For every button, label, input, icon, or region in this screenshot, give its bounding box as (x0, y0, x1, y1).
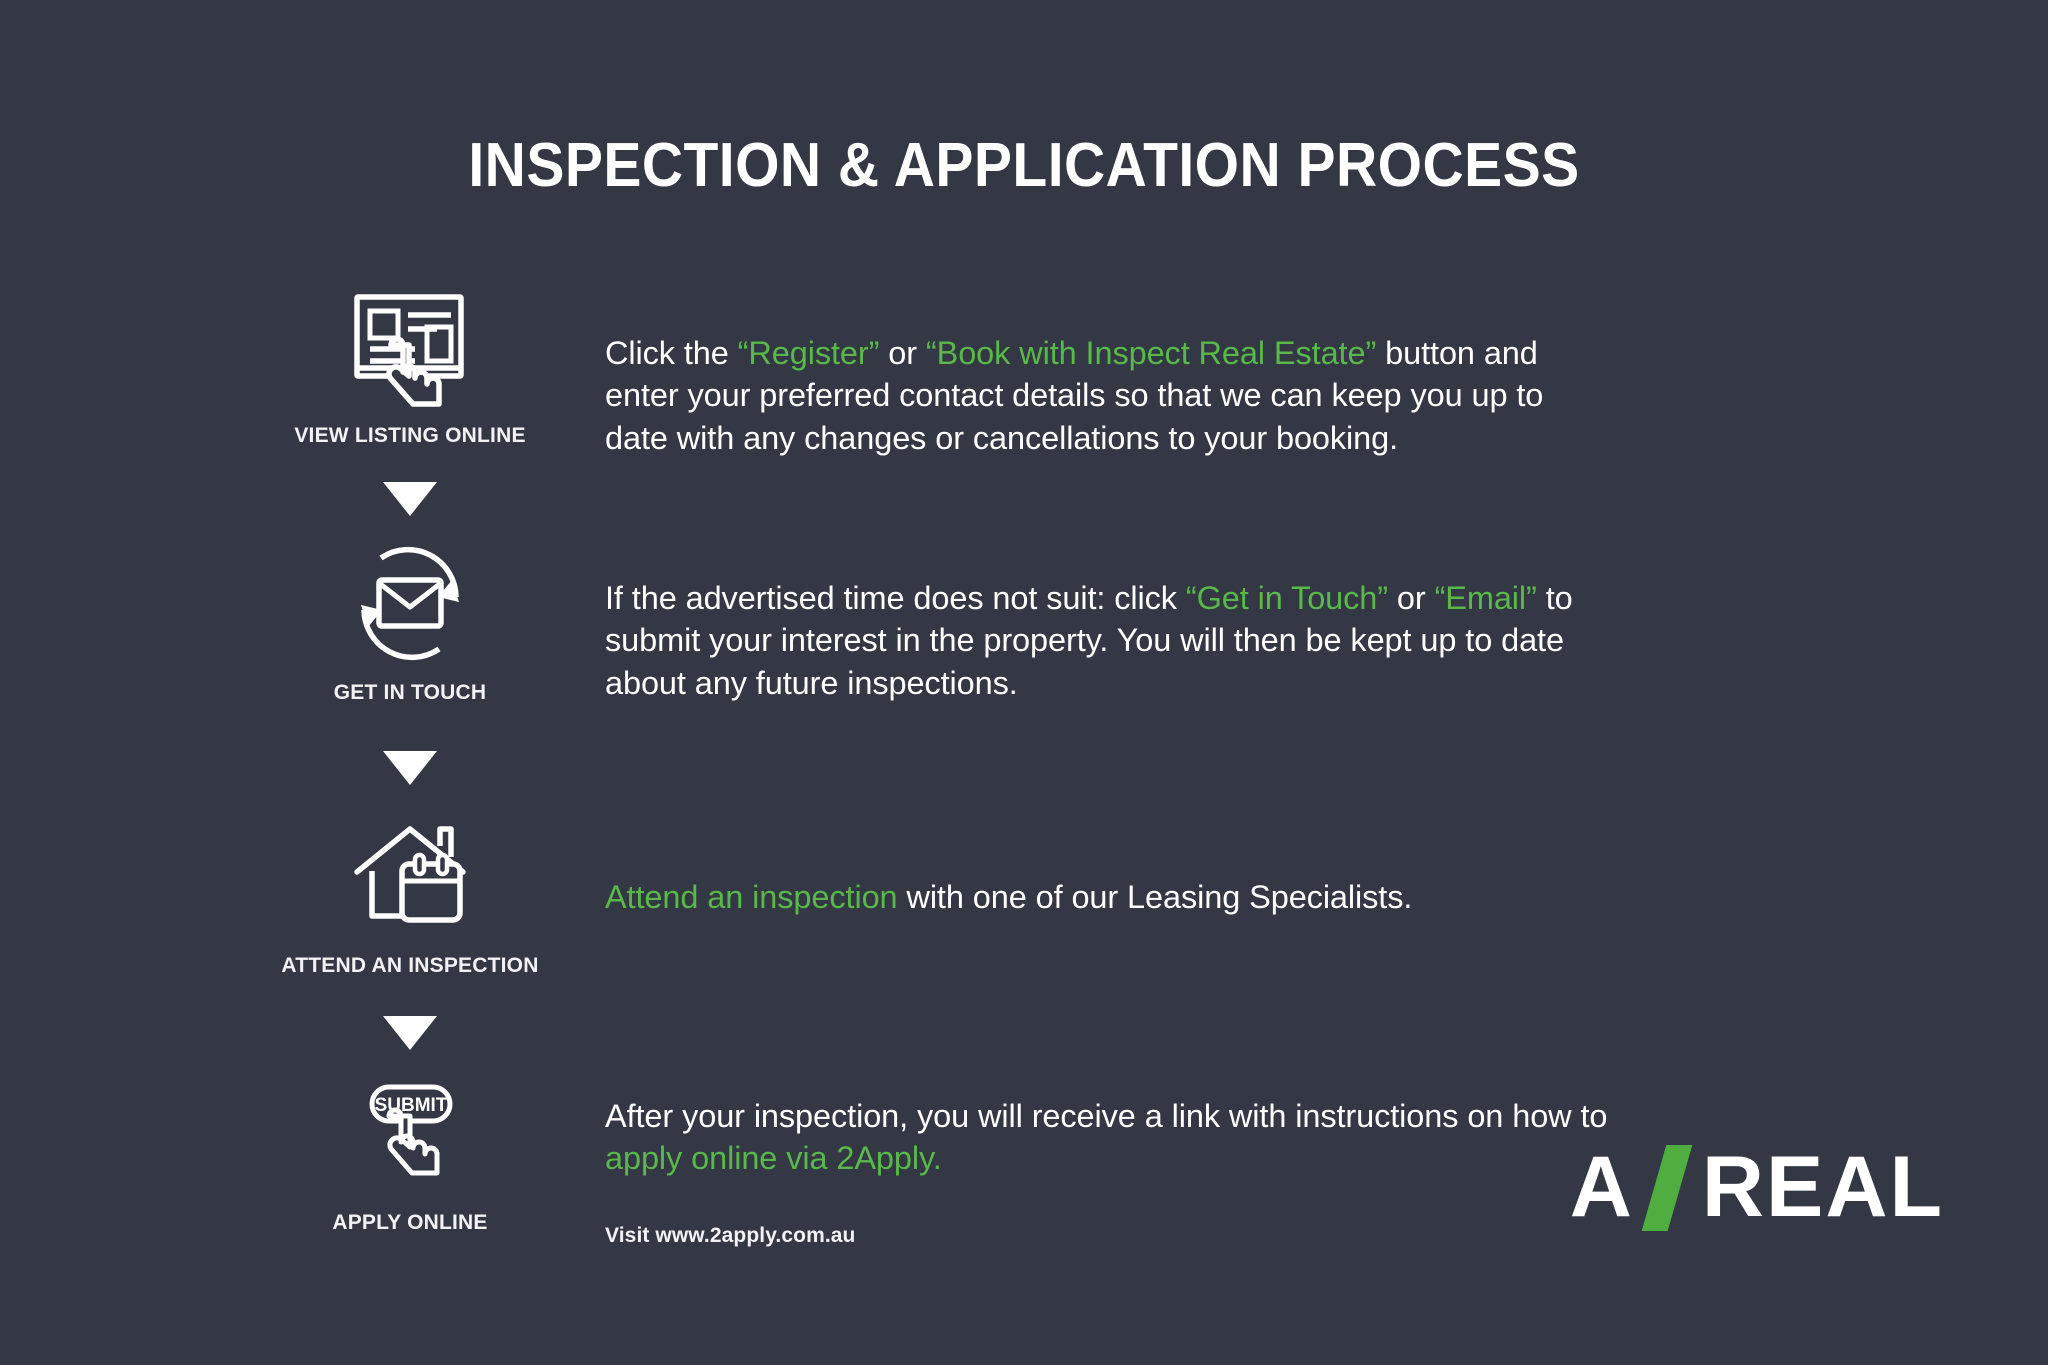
step-3-text-part-accent: Attend an inspection (605, 879, 898, 915)
step-1-icon-column: VIEW LISTING ONLINE (260, 288, 560, 448)
infographic-page: INSPECTION & APPLICATION PROCESS (0, 0, 2048, 1365)
step-2-text-part-accent: “Get in Touch” (1186, 580, 1388, 616)
step-4-icon-column: SUBMIT APPLY ONLINE (260, 1075, 560, 1235)
step-4-body: After your inspection, you will receive … (605, 1095, 1615, 1249)
step-1-text-part-accent: “Register” (738, 335, 880, 371)
step-2-label: GET IN TOUCH (260, 681, 560, 705)
step-1-body: Click the “Register” or “Book with Inspe… (605, 332, 1615, 459)
logo-slash-icon (1642, 1145, 1693, 1231)
submit-button-cursor-icon: SUBMIT (260, 1075, 560, 1195)
submit-icon-label: SUBMIT (375, 1095, 448, 1116)
step-2-text-part: or (1388, 580, 1435, 616)
chevron-down-icon-3 (383, 1016, 437, 1050)
step-2-text-part: If the advertised time does not suit: cl… (605, 580, 1186, 616)
visit-url-line: Visit www.2apply.com.au (605, 1222, 1615, 1249)
step-1-text-part: or (879, 335, 926, 371)
step-2-body: If the advertised time does not suit: cl… (605, 577, 1615, 704)
step-1-text-part: Click the (605, 335, 738, 371)
step-1-text-part-accent: “Book with Inspect Real Estate” (926, 335, 1376, 371)
house-calendar-icon (260, 818, 560, 938)
step-2-text-part-accent: “Email” (1435, 580, 1537, 616)
chevron-down-icon-1 (383, 482, 437, 516)
step-3-text-part: with one of our Leasing Specialists. (898, 879, 1413, 915)
step-4-label: APPLY ONLINE (260, 1211, 560, 1235)
listing-cursor-icon (260, 288, 560, 408)
logo-text-left: A (1570, 1138, 1634, 1237)
step-2-icon-column: GET IN TOUCH (260, 545, 560, 705)
logo-text-right: REAL (1702, 1138, 1944, 1237)
step-3-label: ATTEND AN INSPECTION (260, 954, 560, 978)
step-3-body: Attend an inspection with one of our Lea… (605, 876, 1615, 918)
brand-logo: A REAL (1570, 1138, 1944, 1237)
envelope-refresh-icon (260, 545, 560, 665)
step-1-label: VIEW LISTING ONLINE (260, 424, 560, 448)
step-4-text-part: After your inspection, you will receive … (605, 1098, 1607, 1134)
step-4-text-part-accent: apply online via 2Apply. (605, 1140, 942, 1176)
step-3-icon-column: ATTEND AN INSPECTION (260, 818, 560, 978)
chevron-down-icon-2 (383, 751, 437, 785)
